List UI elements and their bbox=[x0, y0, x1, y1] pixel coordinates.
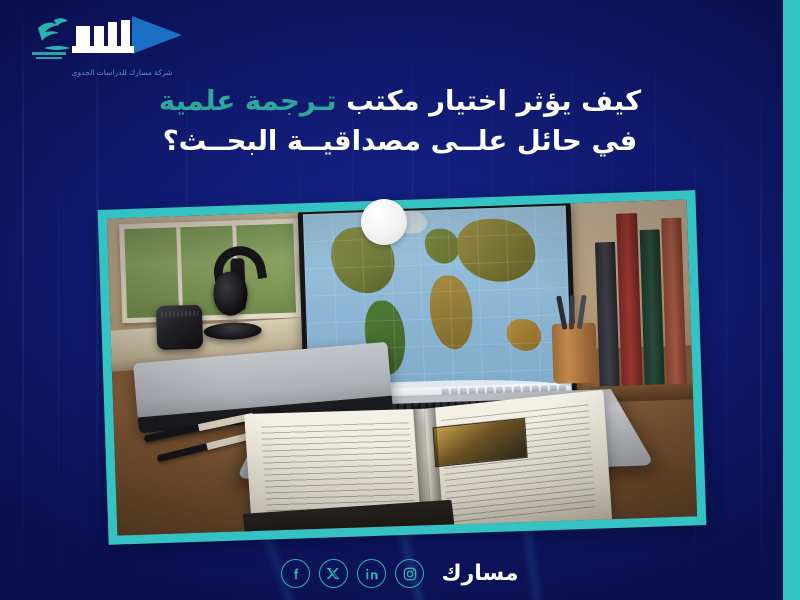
x-twitter-icon[interactable] bbox=[319, 559, 348, 588]
pen-holder bbox=[551, 323, 597, 384]
photo-frame bbox=[98, 190, 707, 545]
linkedin-icon[interactable] bbox=[357, 559, 386, 588]
headline-line-1-accent: تـرجمة علمية bbox=[159, 85, 337, 117]
bookshelf-books bbox=[594, 203, 687, 390]
open-book bbox=[245, 393, 613, 536]
instagram-icon[interactable] bbox=[395, 559, 424, 588]
social-links bbox=[281, 559, 424, 588]
headline-line-1: كيف يؤثر اختيار مكتب تـرجمة علمية bbox=[0, 84, 800, 119]
white-circle-accent bbox=[361, 199, 407, 245]
brand-logo[interactable]: شركة مسارك للدراسات الجدوى bbox=[14, 8, 244, 80]
footer-bar: مسارك bbox=[0, 559, 800, 588]
footer-brand-name: مسارك bbox=[441, 561, 518, 586]
headline-line-2: في حائل علــى مصداقيــة البحــث؟ bbox=[0, 124, 800, 159]
brand-tagline: شركة مسارك للدراسات الجدوى bbox=[32, 68, 212, 77]
facebook-icon[interactable] bbox=[281, 559, 310, 588]
desk-photo bbox=[107, 199, 697, 535]
desk-speaker bbox=[156, 304, 203, 350]
logo-mark-icon bbox=[14, 8, 244, 70]
poster-canvas: شركة مسارك للدراسات الجدوى كيف يؤثر اختي… bbox=[0, 0, 800, 600]
headline-block: كيف يؤثر اختيار مكتب تـرجمة علمية في حائ… bbox=[0, 84, 800, 159]
window bbox=[119, 219, 302, 323]
headline-line-1-prefix: كيف يؤثر اختيار مكتب bbox=[337, 85, 641, 117]
